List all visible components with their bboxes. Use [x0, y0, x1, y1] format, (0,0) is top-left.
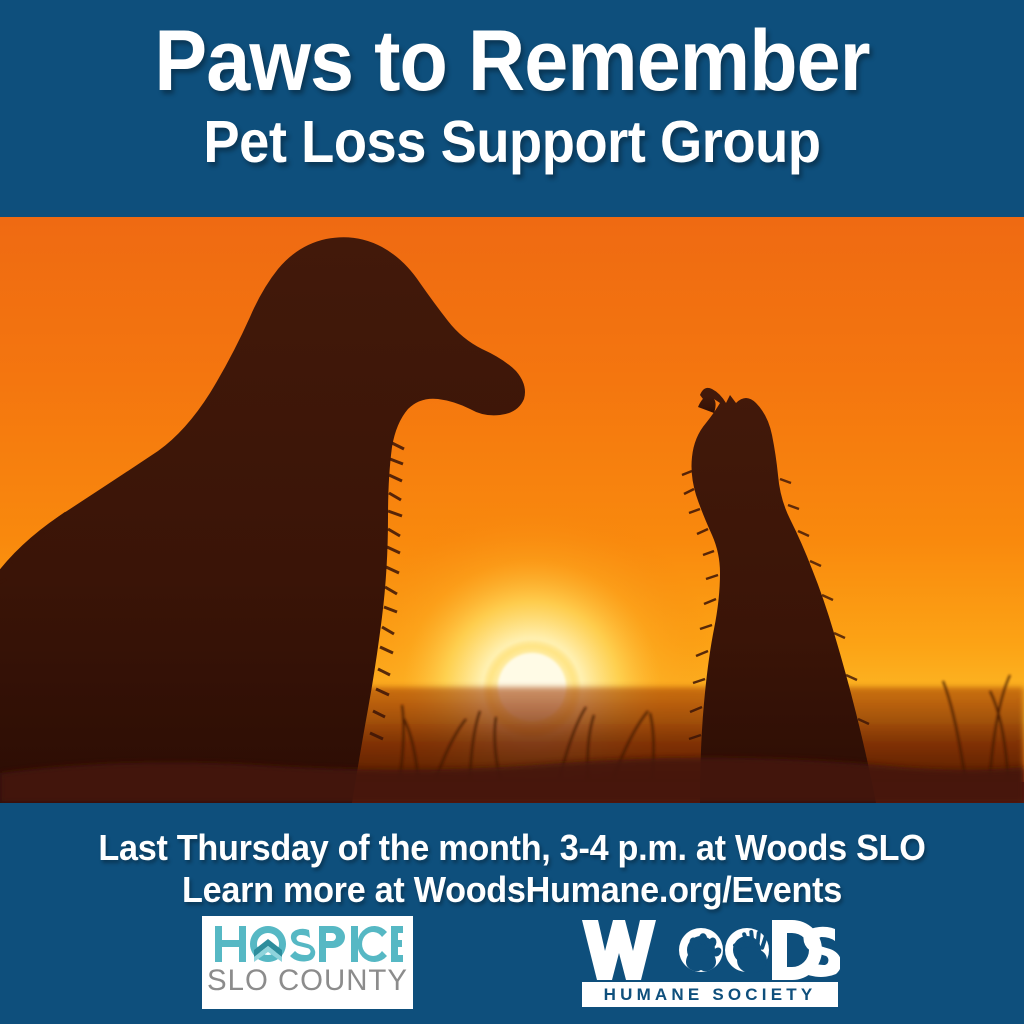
- hospice-slo-county-logo[interactable]: SLO COUNTY: [202, 916, 413, 1009]
- poster-canvas: Paws to Remember Pet Loss Support Group: [0, 0, 1024, 1024]
- sunset-illustration: [0, 217, 1024, 803]
- woods-subtitle: HUMANE SOCIETY: [604, 985, 817, 1004]
- woods-wordmark: HUMANE SOCIETY: [580, 912, 840, 1012]
- footer-line-url: Learn more at WoodsHumane.org/Events: [26, 869, 999, 911]
- page-subtitle: Pet Loss Support Group: [41, 110, 983, 175]
- hospice-wordmark: [202, 924, 413, 964]
- woods-letters: [582, 920, 840, 980]
- hospice-subtitle: SLO COUNTY: [204, 964, 411, 998]
- sunset-photo: [0, 217, 1024, 803]
- footer-line-schedule: Last Thursday of the month, 3-4 p.m. at …: [26, 803, 999, 869]
- page-title: Paws to Remember: [41, 18, 983, 104]
- header-band: Paws to Remember Pet Loss Support Group: [0, 0, 1024, 217]
- hospice-letters: [213, 924, 403, 964]
- woods-humane-society-logo[interactable]: HUMANE SOCIETY: [580, 912, 840, 1012]
- footer-band: Last Thursday of the month, 3-4 p.m. at …: [0, 803, 1024, 1024]
- logo-row: SLO COUNTY: [0, 912, 1024, 1024]
